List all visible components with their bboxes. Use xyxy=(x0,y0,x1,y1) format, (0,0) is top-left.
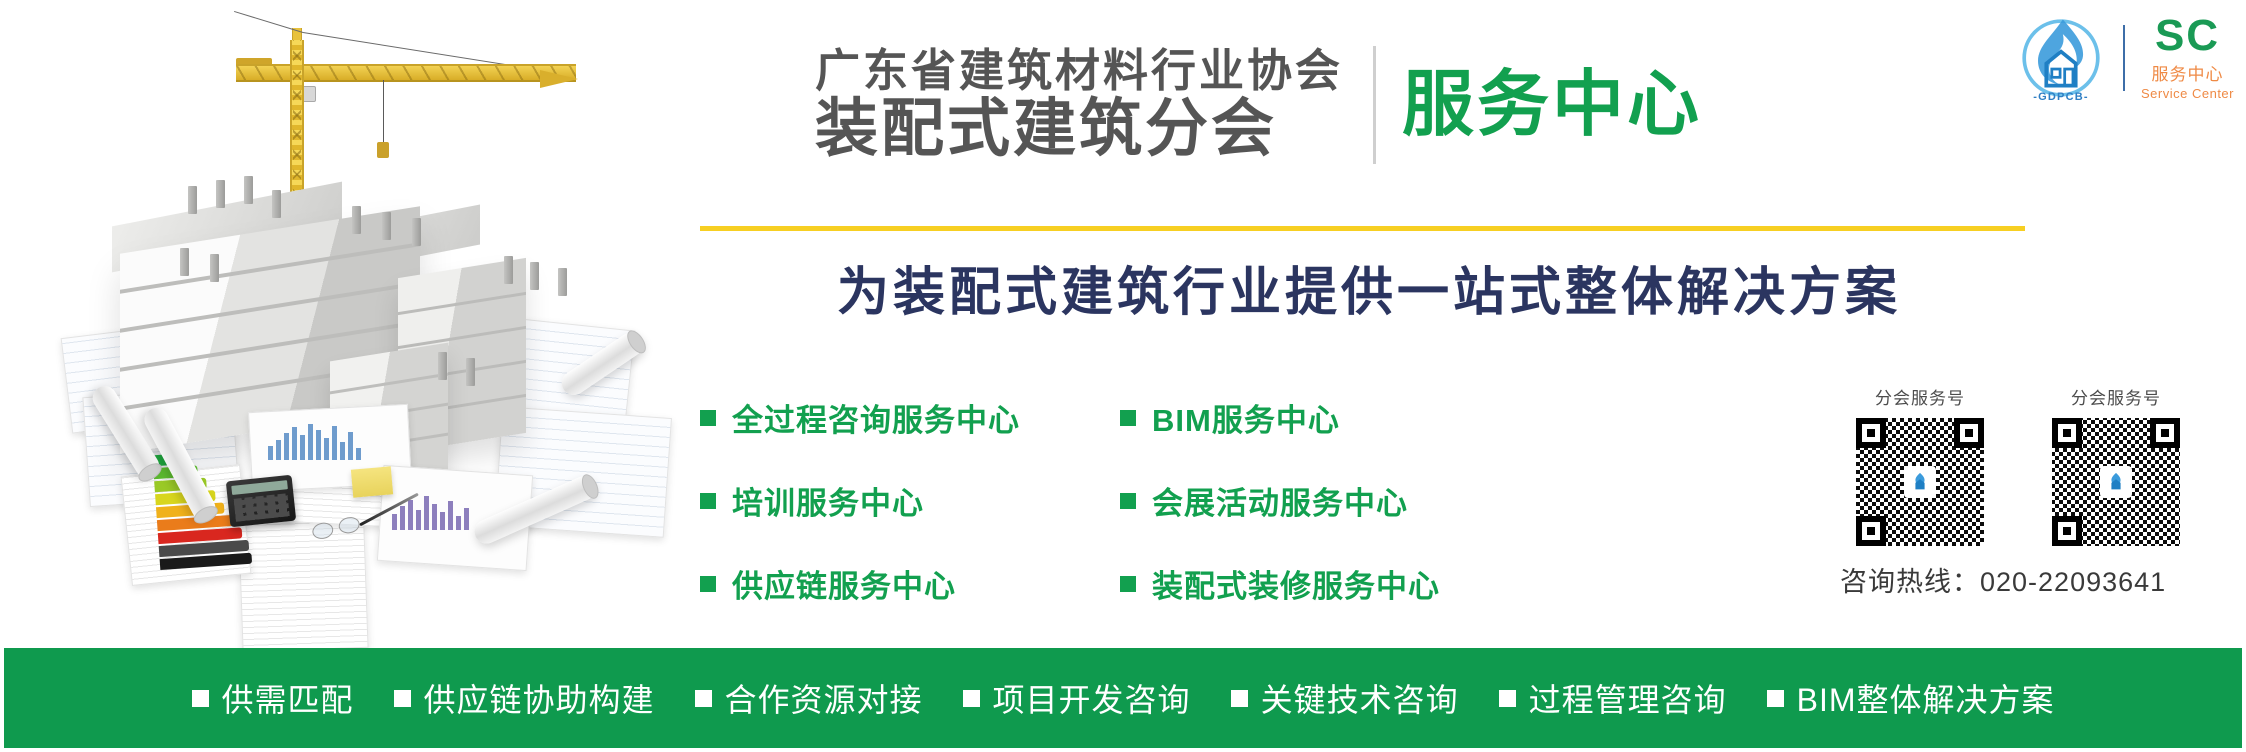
service-label: BIM服务中心 xyxy=(1152,395,1340,440)
square-bullet-icon xyxy=(1499,690,1516,707)
qr-finder-pattern xyxy=(2150,418,2180,448)
rebar-column xyxy=(210,254,219,282)
square-bullet-icon xyxy=(1120,493,1136,509)
square-bullet-icon xyxy=(1231,690,1248,707)
banner-root: 广东省建筑材料行业协会 装配式建筑分会 服务中心 为装配式建筑行业提供一站式整体… xyxy=(0,0,2246,752)
main-slogan: 为装配式建筑行业提供一站式整体解决方案 xyxy=(704,250,2034,325)
service-item[interactable]: BIM服务中心 xyxy=(1120,395,1540,440)
sc-initials: SC xyxy=(2155,15,2220,57)
crane-hoist-line-icon xyxy=(383,80,384,146)
square-bullet-icon xyxy=(695,690,712,707)
qr-finder-pattern xyxy=(2052,516,2082,546)
rebar-column xyxy=(244,176,253,204)
hotline-text: 咨询热线：020-22093641 xyxy=(1840,560,2246,599)
org-title-line2: 装配式建筑分会 xyxy=(815,95,1343,163)
qr-pair: 分会服务号 分会服务号 xyxy=(1840,384,2246,546)
sc-logo-group: SC 服务中心 Service Center xyxy=(2141,15,2234,101)
rebar-column xyxy=(352,206,361,234)
crane-jib-tip-icon xyxy=(540,70,578,88)
gdpcb-mark: -GDPCB- xyxy=(2015,12,2107,104)
sc-english-label: Service Center xyxy=(2141,86,2234,101)
rebar-column xyxy=(530,262,539,290)
square-bullet-icon xyxy=(394,690,411,707)
qr-contact-block: 分会服务号 分会服务号 xyxy=(1840,384,2246,599)
rebar-column xyxy=(216,180,225,208)
org-title-line1: 广东省建筑材料行业协会 xyxy=(815,47,1343,96)
brand-logo: -GDPCB- SC 服务中心 Service Center xyxy=(2015,12,2234,104)
service-label: 会展活动服务中心 xyxy=(1152,478,1408,523)
qr-finder-pattern xyxy=(1856,418,1886,448)
qr-item[interactable]: 分会服务号 xyxy=(1840,384,2000,546)
footer-label: 项目开发咨询 xyxy=(993,675,1191,721)
sc-chinese-label: 服务中心 xyxy=(2152,60,2224,85)
rebar-column xyxy=(466,358,475,386)
qr-finder-pattern xyxy=(1856,516,1886,546)
crane-hook-icon xyxy=(377,142,389,158)
gdpcb-abbreviation: -GDPCB- xyxy=(2015,91,2107,103)
square-bullet-icon xyxy=(1767,690,1784,707)
service-item[interactable]: 供应链服务中心 xyxy=(700,561,1120,606)
footer-item[interactable]: 项目开发咨询 xyxy=(963,675,1191,721)
bar-chart-purple xyxy=(392,492,469,530)
footer-keyword-bar: 供需匹配 供应链协助构建 合作资源对接 项目开发咨询 关键技术咨询 过程管理咨询… xyxy=(4,648,2242,748)
qr-center-logo xyxy=(2100,466,2132,498)
calculator-icon xyxy=(226,475,296,528)
gold-divider-rule xyxy=(700,226,2025,231)
hero-construction-image xyxy=(0,0,700,648)
footer-label: 合作资源对接 xyxy=(725,675,923,721)
rebar-column xyxy=(504,256,513,284)
crane-jib-icon xyxy=(236,64,576,82)
footer-label: 供应链协助构建 xyxy=(424,675,655,721)
rebar-column xyxy=(180,248,189,276)
qr-finder-pattern xyxy=(2052,418,2082,448)
service-label: 全过程咨询服务中心 xyxy=(732,395,1020,440)
header-title-row: 广东省建筑材料行业协会 装配式建筑分会 服务中心 xyxy=(815,46,1702,164)
service-item[interactable]: 会展活动服务中心 xyxy=(1120,478,1540,523)
service-label: 供应链服务中心 xyxy=(732,561,956,606)
square-bullet-icon xyxy=(963,690,980,707)
qr-caption: 分会服务号 xyxy=(1840,384,2000,409)
hero-stage xyxy=(0,0,700,648)
service-label: 装配式装修服务中心 xyxy=(1152,561,1440,606)
footer-item[interactable]: 供需匹配 xyxy=(192,675,354,721)
services-grid: 全过程咨询服务中心 BIM服务中心 培训服务中心 会展活动服务中心 供应链服务中… xyxy=(700,395,1910,606)
rebar-column xyxy=(438,352,447,380)
brand-divider xyxy=(2123,25,2125,91)
qr-code-image[interactable] xyxy=(2052,418,2180,546)
qr-item[interactable]: 分会服务号 xyxy=(2036,384,2196,546)
square-bullet-icon xyxy=(192,690,209,707)
service-item[interactable]: 培训服务中心 xyxy=(700,478,1120,523)
title-vertical-divider xyxy=(1373,46,1376,164)
square-bullet-icon xyxy=(700,493,716,509)
rebar-column xyxy=(558,268,567,296)
crane-cable-rear-icon xyxy=(234,11,303,33)
service-label: 培训服务中心 xyxy=(732,478,924,523)
footer-label: 关键技术咨询 xyxy=(1261,675,1459,721)
square-bullet-icon xyxy=(1120,410,1136,426)
crane-cable-front-icon xyxy=(303,32,511,66)
square-bullet-icon xyxy=(1120,576,1136,592)
footer-item[interactable]: 关键技术咨询 xyxy=(1231,675,1459,721)
bar-chart-blue xyxy=(268,418,361,460)
footer-item[interactable]: 合作资源对接 xyxy=(695,675,923,721)
rebar-column xyxy=(382,212,391,240)
qr-finder-pattern xyxy=(1954,418,1984,448)
square-bullet-icon xyxy=(700,410,716,426)
rebar-column xyxy=(412,218,421,246)
footer-label: 过程管理咨询 xyxy=(1529,675,1727,721)
org-title-group: 广东省建筑材料行业协会 装配式建筑分会 xyxy=(815,47,1343,164)
sticky-note xyxy=(351,466,393,497)
service-item[interactable]: 全过程咨询服务中心 xyxy=(700,395,1120,440)
rebar-column xyxy=(272,190,281,218)
footer-item[interactable]: BIM整体解决方案 xyxy=(1767,675,2055,721)
service-item[interactable]: 装配式装修服务中心 xyxy=(1120,561,1540,606)
footer-item[interactable]: 供应链协助构建 xyxy=(394,675,655,721)
rebar-column xyxy=(188,186,197,214)
square-bullet-icon xyxy=(700,576,716,592)
service-center-title: 服务中心 xyxy=(1402,69,1702,141)
footer-label: 供需匹配 xyxy=(222,675,354,721)
footer-item[interactable]: 过程管理咨询 xyxy=(1499,675,1727,721)
qr-center-logo xyxy=(1904,466,1936,498)
footer-label: BIM整体解决方案 xyxy=(1797,675,2055,721)
qr-caption: 分会服务号 xyxy=(2036,384,2196,409)
qr-code-image[interactable] xyxy=(1856,418,1984,546)
